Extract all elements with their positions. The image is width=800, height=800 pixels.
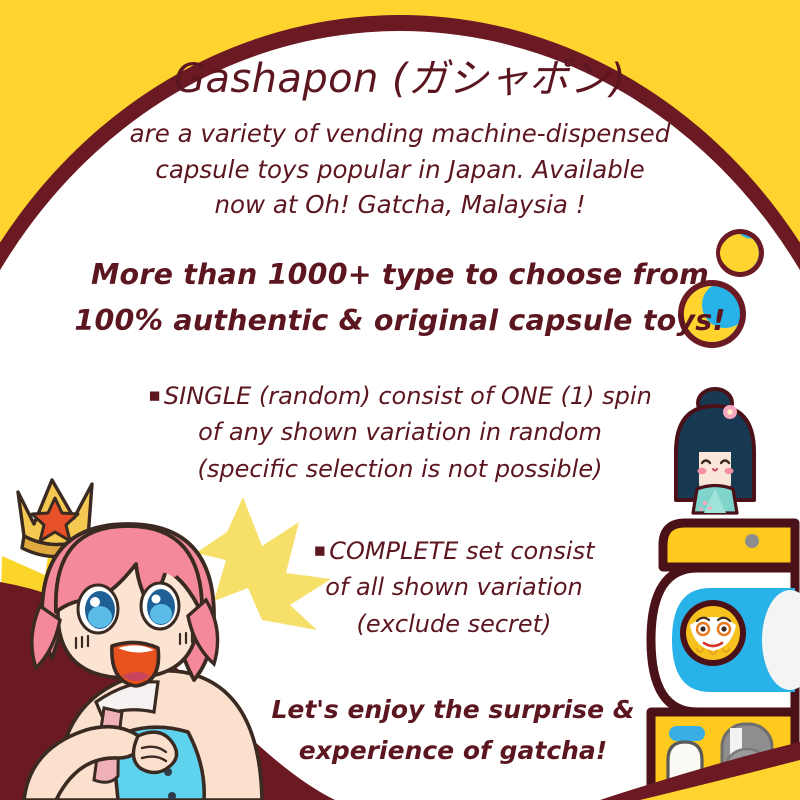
complete-line-2: of all shown variation (108, 569, 800, 605)
single-line-1-text: SINGLE (random) consist of ONE (1) spin (164, 382, 652, 410)
intro-line-2: capsule toys popular in Japan. Available (0, 152, 800, 188)
complete-bullet-icon: ▪ (314, 540, 327, 561)
complete-line-1-text: COMPLETE set consist (329, 537, 594, 565)
page-title: Gashapon (ガシャポン) (0, 54, 800, 105)
complete-line-1: ▪COMPLETE set consist (108, 533, 800, 569)
headline-line-1: More than 1000+ type to choose from (0, 252, 800, 298)
complete-info-block: ▪COMPLETE set consist of all shown varia… (0, 533, 800, 642)
intro-paragraph: are a variety of vending machine-dispens… (0, 116, 800, 223)
outro-line-1: Let's enjoy the surprise & (106, 690, 800, 731)
complete-line-3: (exclude secret) (108, 606, 800, 642)
outro-line-2: experience of gatcha! (106, 731, 800, 772)
single-info-block: ▪SINGLE (random) consist of ONE (1) spin… (0, 378, 800, 487)
headline-block: More than 1000+ type to choose from 100%… (0, 252, 800, 344)
poster-text-layer: Gashapon (ガシャポン) are a variety of vendin… (0, 0, 800, 800)
outro-block: Let's enjoy the surprise & experience of… (0, 690, 800, 771)
single-line-3: (specific selection is not possible) (0, 451, 800, 487)
single-bullet-icon: ▪ (148, 385, 161, 406)
single-line-1: ▪SINGLE (random) consist of ONE (1) spin (0, 378, 800, 414)
intro-line-3: now at Oh! Gatcha, Malaysia ! (0, 187, 800, 223)
gashapon-promo-poster: Gashapon (ガシャポン) are a variety of vendin… (0, 0, 800, 800)
single-line-2: of any shown variation in random (0, 414, 800, 450)
headline-line-2: 100% authentic & original capsule toys! (0, 298, 800, 344)
intro-line-1: are a variety of vending machine-dispens… (0, 116, 800, 152)
